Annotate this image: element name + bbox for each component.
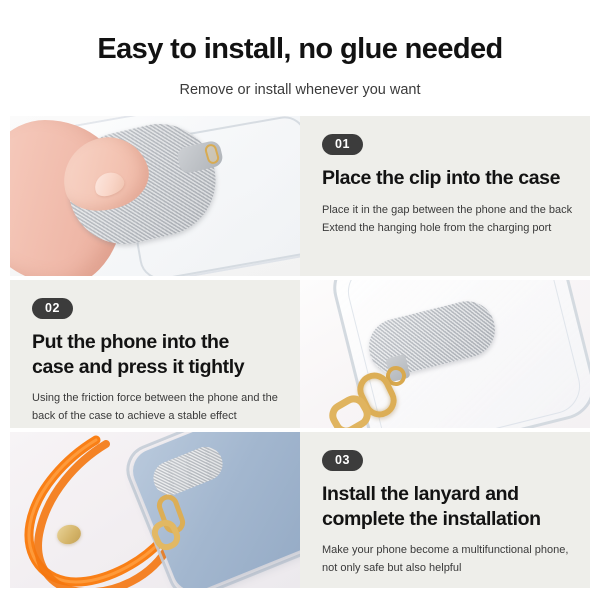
step-3-text: 03 Install the lanyard and complete the … — [300, 432, 590, 588]
header: Easy to install, no glue needed Remove o… — [0, 0, 600, 98]
step-1-desc-line-1: Place it in the gap between the phone an… — [322, 201, 570, 219]
step-3-desc-line-2: not only safe but also helpful — [322, 559, 570, 577]
page-title: Easy to install, no glue needed — [0, 34, 600, 66]
step-3-description: Make your phone become a multifunctional… — [322, 541, 570, 577]
step-2-title-line-1: Put the phone into the — [32, 330, 280, 354]
step-2-text: 02 Put the phone into the case and press… — [10, 280, 300, 428]
page-subtitle: Remove or install whenever you want — [0, 82, 600, 98]
step-2-badge: 02 — [32, 298, 73, 320]
step-2-title-line-2: case and press it tightly — [32, 355, 280, 379]
step-3-title-line-1: Install the lanyard and — [322, 482, 570, 506]
step-3-desc-line-1: Make your phone become a multifunctional… — [322, 541, 570, 559]
step-2-description: Using the friction force between the pho… — [32, 389, 280, 425]
step-1-photo — [10, 116, 300, 276]
step-1-desc-line-2: Extend the hanging hole from the chargin… — [322, 219, 570, 237]
steps-container: 01 Place the clip into the case Place it… — [0, 116, 600, 588]
step-2-desc-line-2: back of the case to achieve a stable eff… — [32, 407, 280, 425]
step-1-description: Place it in the gap between the phone an… — [322, 201, 570, 237]
step-3-title: Install the lanyard and complete the ins… — [322, 482, 570, 530]
infographic-page: Easy to install, no glue needed Remove o… — [0, 0, 600, 600]
step-3-title-line-2: complete the installation — [322, 507, 570, 531]
step-1-title: Place the clip into the case — [322, 166, 570, 190]
step-row-1: 01 Place the clip into the case Place it… — [10, 116, 590, 276]
step-2-photo — [300, 280, 590, 428]
step-row-3: 03 Install the lanyard and complete the … — [10, 432, 590, 588]
step-2-desc-line-1: Using the friction force between the pho… — [32, 389, 280, 407]
step-2-title: Put the phone into the case and press it… — [32, 330, 280, 378]
step-3-badge: 03 — [322, 450, 363, 472]
step-1-badge: 01 — [322, 134, 363, 156]
step-row-2: 02 Put the phone into the case and press… — [10, 280, 590, 428]
step-3-photo — [10, 432, 300, 588]
step-1-text: 01 Place the clip into the case Place it… — [300, 116, 590, 276]
